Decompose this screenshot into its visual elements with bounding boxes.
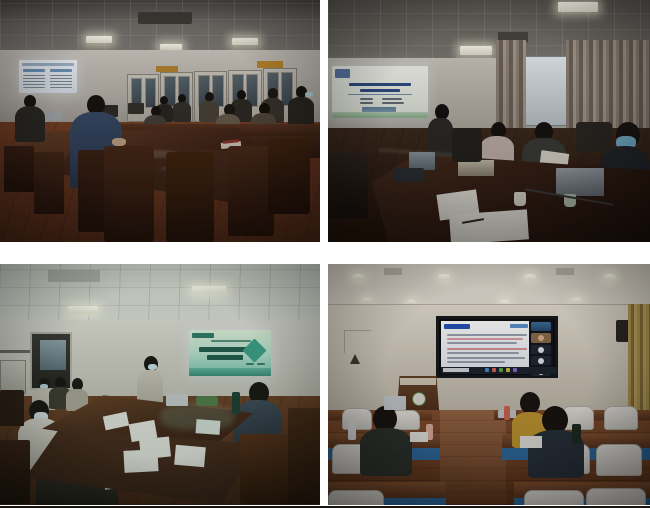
slide-header-bar [444,324,470,329]
vc-tile-video[interactable] [531,322,551,331]
ceiling-vent [48,270,100,282]
chair [0,390,24,426]
downlight [572,298,582,303]
laptop [556,168,604,196]
display-slide [441,321,531,369]
slide-skyline [189,368,271,376]
chair [0,440,30,504]
attendee-body [173,102,191,122]
chair [4,146,34,192]
projected-title-slide [332,66,428,118]
downlight [604,274,616,280]
desk-plant [196,396,218,406]
slide-diamond [242,338,266,362]
floor-aisle-highlight [440,410,506,505]
downlight [438,274,450,280]
cabinet-glass-door [145,78,156,108]
photo-bottom-left[interactable] [0,264,320,505]
paper-cup [514,192,526,206]
whiteboard-marks [344,330,371,353]
office-chair [452,128,482,162]
cabinet-plaque [156,66,178,72]
notebook [520,436,542,448]
foreground-person-hand [112,138,126,146]
ceiling-light [460,46,492,55]
slide-logo [335,69,350,78]
ceiling-light [558,2,598,12]
auditorium-seat [586,488,646,505]
laptop [166,394,188,406]
chair [104,146,154,242]
auditorium-seat [604,406,638,430]
slide-logo [192,333,214,338]
attendee-body [360,428,412,476]
attendee-body [15,106,45,142]
ceiling-light [86,36,112,43]
chair [288,408,320,504]
slide-logo [510,324,528,328]
slide-title-line [207,355,243,360]
ceiling-light [68,306,98,314]
ceiling-vent [556,268,574,275]
office-chair [328,152,368,218]
vc-tile-participant[interactable] [531,356,551,365]
auditorium-seat [342,408,372,430]
cabinet-plaque [257,61,283,68]
door-window [40,340,66,370]
ceiling [328,264,650,308]
auditorium-seat [524,490,584,505]
stacked-books [458,160,494,176]
display-taskbar[interactable] [441,367,557,374]
slide-title-line [349,83,411,86]
scene-conference-room-cabinets [0,0,320,242]
ceiling-vent [384,268,402,275]
handout [174,445,206,468]
slide-title-line [360,89,400,92]
downlight [362,298,372,303]
laptop [128,103,144,114]
ceiling-light [232,38,258,45]
attendee-head [520,392,540,414]
ceiling-vent [138,12,192,24]
thermos-flask [572,424,581,444]
chair [166,152,214,242]
slide-subtitle [211,340,251,342]
scene-green-slide-presentation [0,264,320,505]
water-bottle [348,422,356,440]
desk-phone [394,168,424,182]
curtain [496,40,526,132]
wall-cabinet [0,360,26,394]
chair [268,138,310,214]
office-chair [576,122,612,152]
handout [123,449,158,473]
interactive-display[interactable] [436,316,558,378]
photo-top-left[interactable] [0,0,320,242]
window [524,56,568,126]
auditorium-seat [328,490,384,505]
scene-lecture-hall-video-conference [328,264,650,505]
handout [196,419,221,435]
thermos-flask [232,392,240,414]
water-bottle [504,406,510,420]
wall-rail [0,350,30,353]
projected-slide [19,60,77,93]
auditorium-seat [596,444,642,476]
notebook-page [449,209,529,242]
ceiling-light [192,286,226,294]
chair [34,152,64,214]
downlight [524,274,536,280]
scene-presentation-curtains [328,0,650,242]
downlight [352,274,364,280]
photo-collage [0,0,650,508]
face-mask [305,92,313,97]
laptop [384,396,406,410]
wall-panel-seam [328,304,650,305]
vc-tile-participant[interactable] [531,345,551,354]
lectern-nameplate [400,378,436,385]
notebook [410,432,428,442]
attendee-body [288,97,314,125]
projected-title-slide [189,330,271,376]
vc-tile-participant[interactable] [531,333,551,343]
photo-bottom-right[interactable] [328,264,650,505]
lectern-emblem [412,392,426,406]
photo-top-right[interactable] [328,0,650,242]
